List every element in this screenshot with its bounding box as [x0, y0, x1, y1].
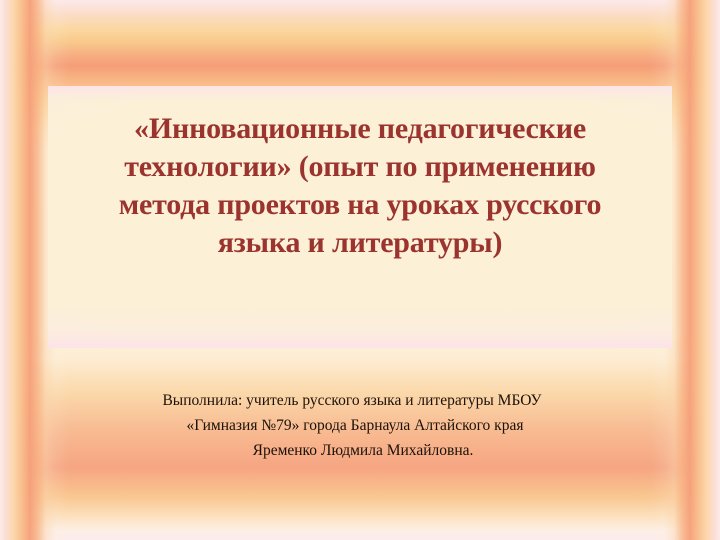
subtitle-line-author-role: Выполнила: учитель русского языка и лите… — [40, 388, 680, 413]
slide-title: «Инновационные педагогические технологии… — [48, 110, 672, 262]
slide-subtitle: Выполнила: учитель русского языка и лите… — [40, 388, 680, 463]
title-line-3: метода проектов на уроках русского — [48, 186, 672, 224]
title-line-4: языка и литературы) — [48, 224, 672, 262]
title-line-2: технологии» (опыт по применению — [48, 148, 672, 186]
subtitle-line-institution: «Гимназия №79» города Барнаула Алтайског… — [40, 413, 680, 438]
title-line-1: «Инновационные педагогические — [48, 110, 672, 148]
subtitle-line-author-name: Яременко Людмила Михайловна. — [40, 438, 680, 463]
title-slide: «Инновационные педагогические технологии… — [0, 0, 720, 540]
